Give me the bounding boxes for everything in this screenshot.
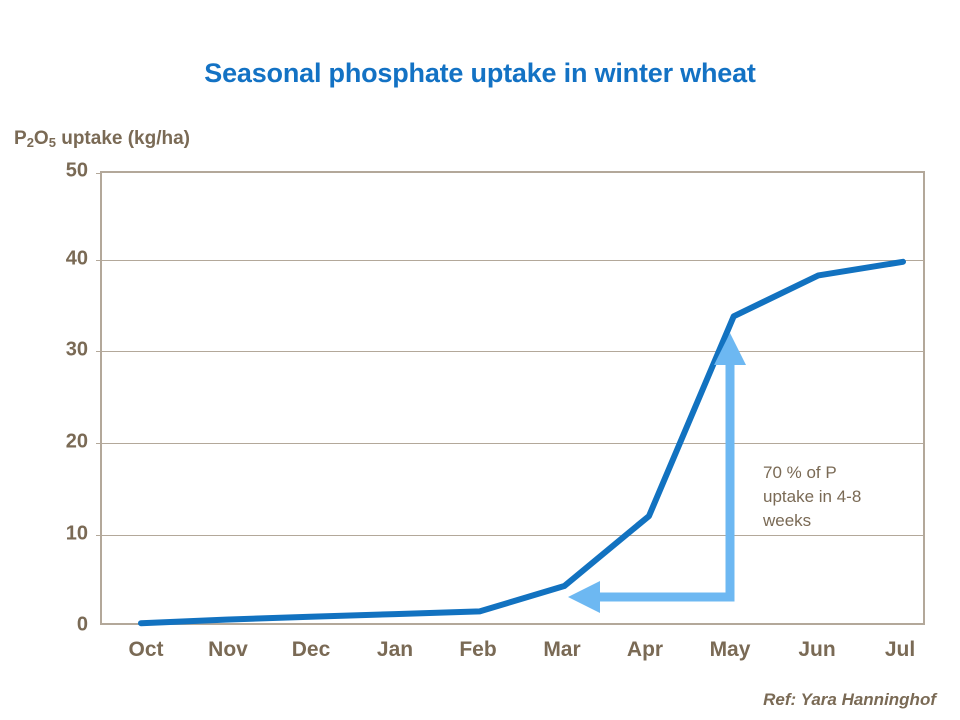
y-tick-label-0: 0 — [28, 614, 88, 637]
y-tick-label-40: 40 — [28, 248, 88, 271]
y-axis-title-sub-5: 5 — [49, 135, 56, 150]
gridline-10 — [102, 535, 923, 536]
tick-20 — [96, 443, 102, 444]
y-axis-tick-labels: 50 40 30 20 10 0 — [20, 171, 88, 625]
annotation-line-3: weeks — [763, 509, 913, 533]
x-tick-label-mar: Mar — [517, 638, 607, 662]
plot-area — [100, 171, 925, 625]
x-tick-label-apr: Apr — [600, 638, 690, 662]
y-tick-label-50: 50 — [28, 160, 88, 183]
tick-10 — [96, 535, 102, 536]
x-tick-label-jun: Jun — [772, 638, 862, 662]
x-tick-label-dec: Dec — [266, 638, 356, 662]
slide-canvas: Seasonal phosphate uptake in winter whea… — [0, 0, 960, 720]
y-tick-label-30: 30 — [28, 339, 88, 362]
y-axis-title-rest: uptake (kg/ha) — [56, 128, 190, 149]
x-tick-label-nov: Nov — [183, 638, 273, 662]
tick-40 — [96, 260, 102, 261]
reference-credit: Ref: Yara Hanninghof — [763, 690, 936, 710]
y-axis-title-sub-2: 2 — [27, 135, 34, 150]
y-tick-label-10: 10 — [28, 523, 88, 546]
page-title: Seasonal phosphate uptake in winter whea… — [0, 58, 960, 89]
y-axis-title-o: O — [34, 128, 49, 149]
tick-50 — [96, 173, 102, 174]
x-tick-label-may: May — [685, 638, 775, 662]
annotation-line-2: uptake in 4-8 — [763, 485, 913, 509]
x-tick-label-feb: Feb — [433, 638, 523, 662]
x-axis-tick-labels: Oct Nov Dec Jan Feb Mar Apr May Jun Jul — [0, 638, 960, 670]
annotation-line-1: 70 % of P — [763, 461, 913, 485]
gridline-20 — [102, 443, 923, 444]
y-tick-label-20: 20 — [28, 431, 88, 454]
y-axis-title: P2O5 uptake (kg/ha) — [14, 128, 190, 150]
annotation-callout-text: 70 % of P uptake in 4-8 weeks — [763, 461, 913, 533]
gridline-40 — [102, 260, 923, 261]
gridline-30 — [102, 351, 923, 352]
tick-30 — [96, 351, 102, 352]
x-tick-label-jan: Jan — [350, 638, 440, 662]
x-tick-label-oct: Oct — [101, 638, 191, 662]
x-tick-label-jul: Jul — [855, 638, 945, 662]
y-axis-title-p: P — [14, 128, 27, 149]
